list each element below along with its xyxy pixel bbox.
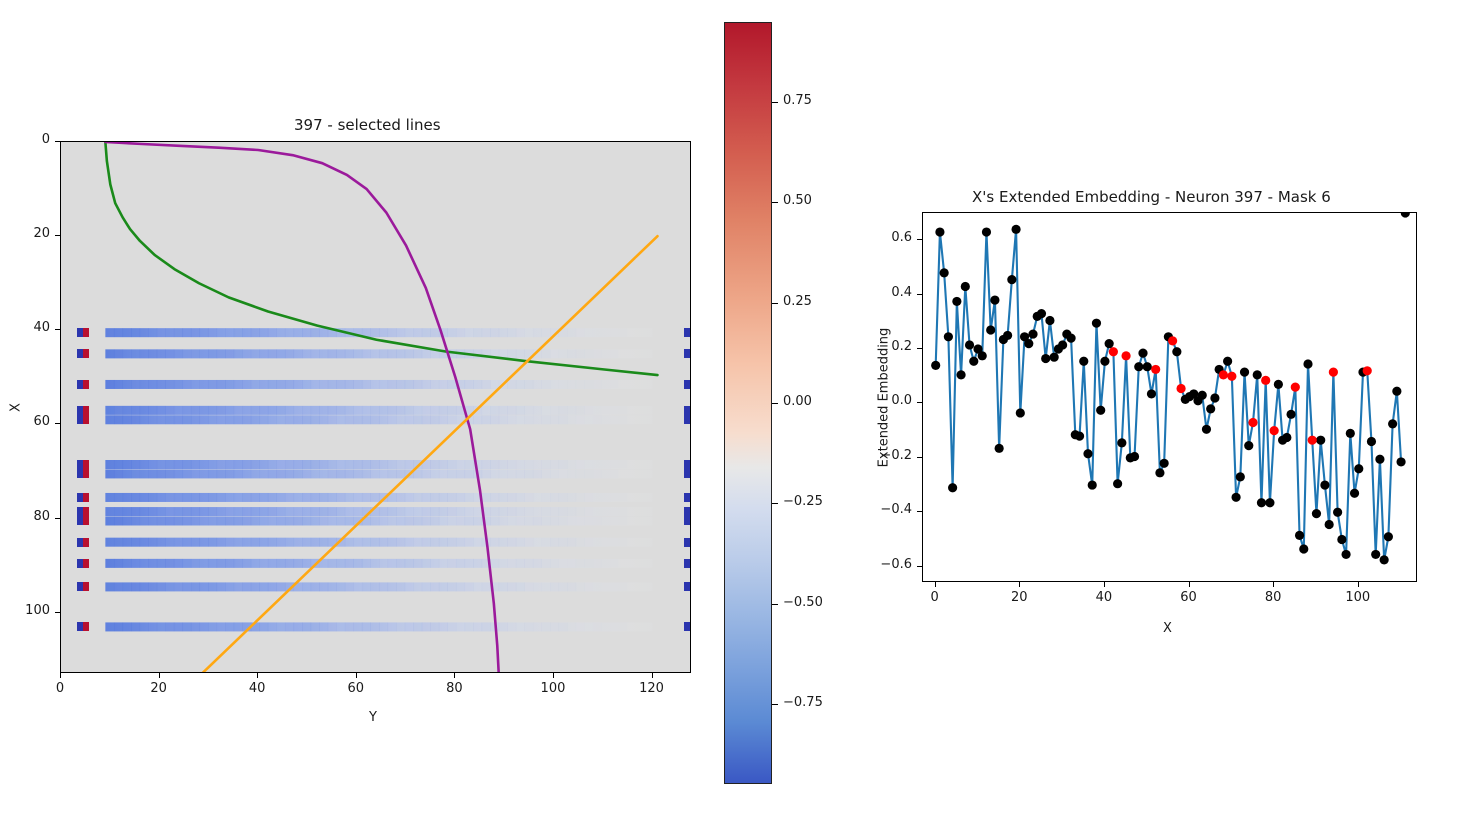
- embedding-point: [1024, 339, 1033, 348]
- row-marker-red: [83, 493, 89, 502]
- right-ytick-mark: [917, 566, 922, 567]
- embedding-point: [1384, 532, 1393, 541]
- colorbar-tick-label: 0.25: [783, 294, 812, 309]
- embedding-point: [1350, 489, 1359, 498]
- right-xtick-mark: [1189, 582, 1190, 587]
- embedding-point: [1083, 449, 1092, 458]
- right-ytick-label: 0.4: [862, 285, 912, 300]
- embedding-point: [1244, 441, 1253, 450]
- embedding-point: [1130, 452, 1139, 461]
- row-marker-red: [690, 406, 691, 415]
- right-plot-title: X's Extended Embedding - Neuron 397 - Ma…: [972, 188, 1331, 206]
- left-ytick-label: 60: [2, 414, 50, 429]
- colorbar[interactable]: [724, 22, 772, 784]
- left-ytick-mark: [55, 423, 60, 424]
- right-ytick-mark: [917, 348, 922, 349]
- embedding-point: [1066, 334, 1075, 343]
- left-ytick-mark: [55, 235, 60, 236]
- left-ytick-mark: [55, 612, 60, 613]
- colorbar-tick-label: 0.00: [783, 394, 812, 409]
- embedding-point: [1274, 380, 1283, 389]
- left-xtick-mark: [159, 673, 160, 678]
- embedding-point: [1299, 544, 1308, 553]
- left-xtick-mark: [652, 673, 653, 678]
- row-marker-red: [690, 469, 691, 478]
- left-xtick-label: 40: [237, 681, 277, 696]
- row-marker-red: [690, 538, 691, 547]
- right-ytick-label: −0.4: [862, 502, 912, 517]
- embedding-point-highlighted: [1248, 418, 1257, 427]
- row-marker-red: [690, 380, 691, 389]
- left-plot-area[interactable]: [60, 141, 691, 673]
- embedding-point: [1231, 493, 1240, 502]
- embedding-point: [1210, 393, 1219, 402]
- embedding-point-highlighted: [1308, 436, 1317, 445]
- embedding-point: [995, 444, 1004, 453]
- left-plot-xlabel: Y: [369, 710, 377, 725]
- row-marker-red: [690, 328, 691, 337]
- embedding-point-highlighted: [1121, 351, 1130, 360]
- row-marker-red: [83, 406, 89, 415]
- left-ytick-label: 100: [2, 603, 50, 618]
- embedding-point: [969, 357, 978, 366]
- embedding-point: [961, 282, 970, 291]
- embedding-point: [986, 325, 995, 334]
- embedding-point: [1236, 472, 1245, 481]
- right-xtick-mark: [1104, 582, 1105, 587]
- embedding-points-group: [931, 213, 1410, 564]
- embedding-point: [940, 268, 949, 277]
- left-xtick-mark: [454, 673, 455, 678]
- embedding-point: [982, 227, 991, 236]
- right-plot-svg: [923, 213, 1417, 582]
- embedding-point: [1367, 437, 1376, 446]
- embedding-point: [1206, 404, 1215, 413]
- embedding-point: [1050, 353, 1059, 362]
- embedding-point: [1058, 340, 1067, 349]
- row-marker-red: [690, 493, 691, 502]
- embedding-point: [1092, 319, 1101, 328]
- embedding-point: [1028, 329, 1037, 338]
- right-xtick-mark: [935, 582, 936, 587]
- embedding-point: [1333, 508, 1342, 517]
- embedding-point: [1253, 370, 1262, 379]
- row-marker-red: [83, 622, 89, 631]
- embedding-point: [935, 227, 944, 236]
- left-xtick-label: 20: [139, 681, 179, 696]
- right-ytick-mark: [917, 511, 922, 512]
- right-xtick-label: 100: [1338, 590, 1378, 605]
- embedding-point: [1354, 464, 1363, 473]
- embedding-point: [1325, 520, 1334, 529]
- row-marker-red: [83, 460, 89, 469]
- embedding-point: [1075, 431, 1084, 440]
- embedding-point: [1096, 406, 1105, 415]
- embedding-point-highlighted: [1109, 347, 1118, 356]
- embedding-point: [1007, 275, 1016, 284]
- left-xtick-label: 60: [336, 681, 376, 696]
- colorbar-tick-mark: [772, 102, 778, 103]
- left-ytick-label: 80: [2, 509, 50, 524]
- embedding-point-highlighted: [1219, 370, 1228, 379]
- row-marker-red: [83, 415, 89, 424]
- embedding-point: [1155, 468, 1164, 477]
- embedding-point: [956, 370, 965, 379]
- right-xtick-label: 0: [915, 590, 955, 605]
- right-ytick-mark: [917, 402, 922, 403]
- right-xtick-mark: [1019, 582, 1020, 587]
- colorbar-tick-label: −0.75: [783, 695, 823, 710]
- figure-canvas: 397 - selected lines X Y 020406080100120…: [0, 0, 1461, 817]
- embedding-point: [965, 340, 974, 349]
- embedding-line: [936, 229, 1401, 560]
- embedding-point: [1286, 410, 1295, 419]
- right-ytick-mark: [917, 457, 922, 458]
- right-xtick-label: 40: [1084, 590, 1124, 605]
- right-ytick-label: 0.0: [862, 393, 912, 408]
- embedding-point-highlighted: [1363, 366, 1372, 375]
- row-marker-red: [690, 559, 691, 568]
- embedding-point: [1079, 357, 1088, 366]
- colorbar-tick-label: 0.50: [783, 193, 812, 208]
- embedding-point: [1312, 509, 1321, 518]
- row-marker-red: [83, 349, 89, 358]
- embedding-point: [990, 295, 999, 304]
- right-xtick-label: 60: [1169, 590, 1209, 605]
- left-xtick-mark: [553, 673, 554, 678]
- embedding-point: [1392, 387, 1401, 396]
- embedding-point: [1172, 347, 1181, 356]
- row-marker-red: [83, 538, 89, 547]
- row-marker-red: [83, 507, 89, 516]
- colorbar-tick-mark: [772, 403, 778, 404]
- embedding-point: [1143, 362, 1152, 371]
- left-xtick-label: 120: [632, 681, 672, 696]
- row-marker-red: [690, 460, 691, 469]
- embedding-point: [1160, 459, 1169, 468]
- embedding-point-highlighted: [1270, 426, 1279, 435]
- embedding-point: [1117, 438, 1126, 447]
- left-xtick-label: 100: [533, 681, 573, 696]
- left-xtick-mark: [257, 673, 258, 678]
- right-xtick-mark: [1273, 582, 1274, 587]
- row-marker-red: [690, 415, 691, 424]
- left-plot-title: 397 - selected lines: [294, 116, 441, 134]
- colorbar-tick-label: −0.50: [783, 595, 823, 610]
- embedding-point: [1202, 425, 1211, 434]
- row-edge-markers: [61, 142, 690, 672]
- embedding-point: [1011, 225, 1020, 234]
- embedding-point: [1113, 479, 1122, 488]
- embedding-point: [1388, 419, 1397, 428]
- embedding-point: [1346, 429, 1355, 438]
- left-ytick-mark: [55, 518, 60, 519]
- colorbar-tick-mark: [772, 604, 778, 605]
- embedding-point: [1303, 359, 1312, 368]
- embedding-point: [1041, 354, 1050, 363]
- embedding-point: [1138, 349, 1147, 358]
- row-marker-red: [83, 559, 89, 568]
- left-ytick-label: 20: [2, 226, 50, 241]
- row-marker-red: [690, 507, 691, 516]
- embedding-point: [1134, 362, 1143, 371]
- left-ytick-label: 40: [2, 320, 50, 335]
- row-marker-red: [690, 349, 691, 358]
- embedding-point: [1037, 309, 1046, 318]
- row-marker-red: [83, 516, 89, 525]
- colorbar-tick-label: 0.75: [783, 93, 812, 108]
- left-ytick-label: 0: [2, 132, 50, 147]
- colorbar-tick-mark: [772, 202, 778, 203]
- embedding-point: [1016, 408, 1025, 417]
- right-xtick-label: 80: [1253, 590, 1293, 605]
- embedding-point: [1240, 368, 1249, 377]
- row-marker-red: [83, 328, 89, 337]
- embedding-point-highlighted: [1168, 336, 1177, 345]
- embedding-point: [1257, 498, 1266, 507]
- embedding-point: [1282, 433, 1291, 442]
- embedding-point: [931, 361, 940, 370]
- right-ytick-label: 0.2: [862, 339, 912, 354]
- colorbar-tick-mark: [772, 303, 778, 304]
- row-marker-red: [690, 622, 691, 631]
- colorbar-tick-label: −0.25: [783, 494, 823, 509]
- embedding-point: [1088, 480, 1097, 489]
- right-xtick-mark: [1358, 582, 1359, 587]
- embedding-point: [948, 483, 957, 492]
- embedding-point: [1223, 357, 1232, 366]
- row-marker-red: [690, 582, 691, 591]
- embedding-point: [1380, 555, 1389, 564]
- right-xtick-label: 20: [999, 590, 1039, 605]
- embedding-point: [1316, 436, 1325, 445]
- left-xtick-label: 80: [434, 681, 474, 696]
- embedding-point: [1198, 391, 1207, 400]
- right-ytick-mark: [917, 239, 922, 240]
- embedding-point: [1371, 550, 1380, 559]
- embedding-point: [1341, 550, 1350, 559]
- embedding-point-highlighted: [1176, 384, 1185, 393]
- embedding-point: [1100, 357, 1109, 366]
- embedding-point: [1295, 531, 1304, 540]
- embedding-point: [1375, 455, 1384, 464]
- row-marker-red: [690, 516, 691, 525]
- colorbar-tick-mark: [772, 503, 778, 504]
- embedding-point: [1105, 339, 1114, 348]
- embedding-point: [978, 351, 987, 360]
- left-ytick-mark: [55, 141, 60, 142]
- embedding-point: [1337, 535, 1346, 544]
- embedding-point: [1003, 331, 1012, 340]
- embedding-point: [1320, 480, 1329, 489]
- colorbar-tick-mark: [772, 704, 778, 705]
- embedding-point: [944, 332, 953, 341]
- embedding-point-highlighted: [1151, 365, 1160, 374]
- right-plot-area[interactable]: [922, 212, 1417, 582]
- right-plot-xlabel: X: [1163, 621, 1172, 636]
- embedding-point: [1045, 316, 1054, 325]
- embedding-point: [1401, 213, 1410, 218]
- embedding-point: [952, 297, 961, 306]
- embedding-point-highlighted: [1261, 376, 1270, 385]
- left-xtick-mark: [60, 673, 61, 678]
- right-ytick-label: −0.2: [862, 448, 912, 463]
- embedding-point-highlighted: [1291, 383, 1300, 392]
- embedding-point: [1147, 389, 1156, 398]
- row-marker-red: [83, 380, 89, 389]
- row-marker-red: [83, 469, 89, 478]
- right-ytick-label: −0.6: [862, 557, 912, 572]
- embedding-point-highlighted: [1227, 372, 1236, 381]
- row-marker-red: [83, 582, 89, 591]
- embedding-point: [1396, 457, 1405, 466]
- left-xtick-label: 0: [40, 681, 80, 696]
- left-xtick-mark: [356, 673, 357, 678]
- left-ytick-mark: [55, 329, 60, 330]
- embedding-point: [1265, 498, 1274, 507]
- right-ytick-label: 0.6: [862, 230, 912, 245]
- embedding-point-highlighted: [1329, 368, 1338, 377]
- right-ytick-mark: [917, 294, 922, 295]
